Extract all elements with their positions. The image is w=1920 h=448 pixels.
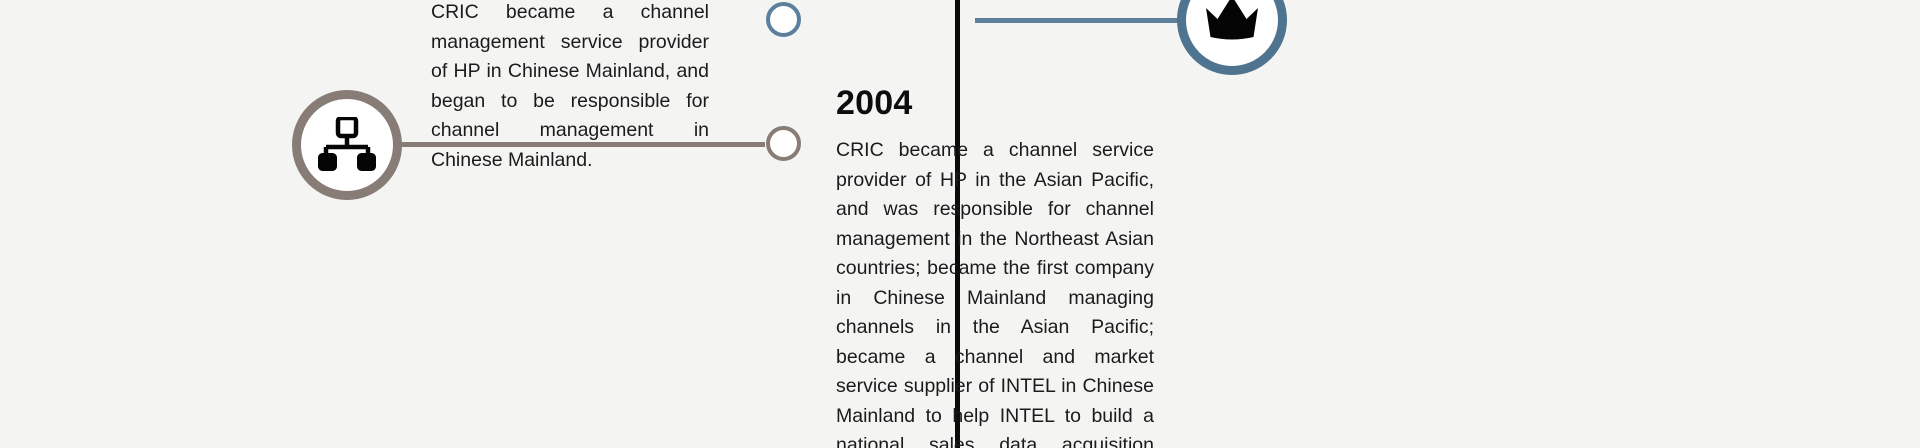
timeline-node-top[interactable] [766,2,801,37]
entry-left-body: CRIC became a channel management service… [431,0,709,175]
timeline-root: CRIC became a channel management service… [0,0,1920,448]
entry-right-year: 2004 [836,82,1154,124]
crown-medallion[interactable] [1177,0,1287,75]
entry-right: 2004 CRIC became a channel service provi… [836,82,1154,448]
timeline-node-second[interactable] [766,126,801,161]
hierarchy-icon [317,117,377,173]
hierarchy-medallion[interactable] [292,90,402,200]
crown-icon [1203,0,1261,45]
entry-right-body: CRIC became a channel service provider o… [836,136,1154,448]
entry-left-text: CRIC became a channel management service… [431,0,709,175]
entry-right-text: CRIC became a channel service provider o… [836,136,1154,448]
